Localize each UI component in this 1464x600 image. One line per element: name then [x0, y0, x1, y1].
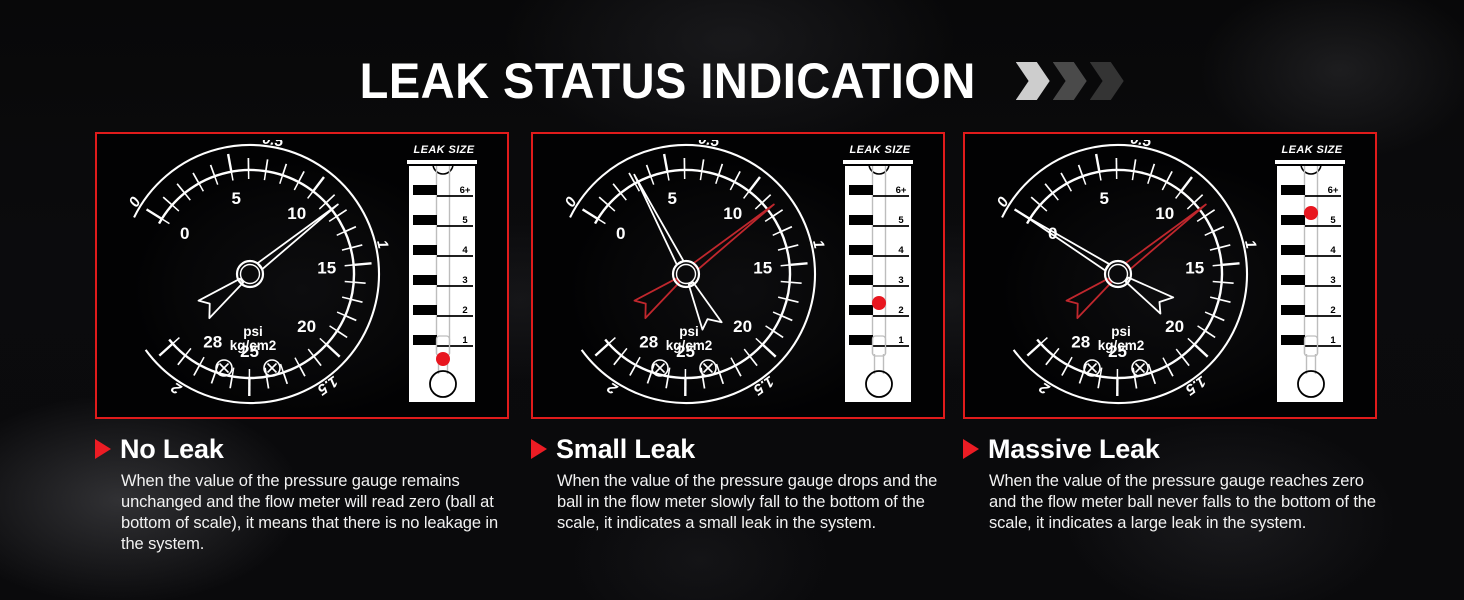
gauge-hub-inner	[677, 265, 696, 284]
gauge-kgcm2-label: 2	[604, 378, 622, 398]
meter-scale-label: 4	[462, 245, 468, 256]
meter-scale-block	[1281, 245, 1305, 255]
meter-scale-block	[849, 245, 873, 255]
gauge-tick-minor	[211, 165, 215, 175]
gauge-tick-inner	[778, 297, 786, 299]
gauge-tick-minor	[703, 378, 705, 389]
meter-scale-label: 6+	[896, 185, 907, 196]
gauge-tick-inner	[755, 204, 761, 209]
gauge-tick-minor	[735, 171, 740, 181]
gauge-tick-major	[791, 263, 808, 264]
gauge-kgcm2-label: 0.5	[261, 140, 285, 151]
meter-scale-label: 1	[462, 335, 468, 346]
gauge-tick-inner	[1197, 217, 1204, 221]
gauge-tick-inner	[716, 176, 719, 184]
gauge-tick-inner	[1149, 364, 1152, 372]
gauge-tick-inner	[766, 326, 773, 330]
gauge-unit-kgcm2: kg/cm2	[666, 338, 713, 353]
meter-scale-block	[1281, 275, 1305, 285]
gauge-tick-minor	[1045, 184, 1052, 193]
gauge-tick-inner	[337, 312, 344, 315]
gauge-tick-inner	[1176, 192, 1181, 198]
gauge-tick-inner	[319, 204, 325, 209]
meter-scale-label: 1	[1330, 335, 1336, 346]
gauge-tick-minor	[720, 373, 724, 383]
meter-scale-block	[849, 215, 873, 225]
gauge-tick-major	[1027, 344, 1040, 355]
caption-title: Massive Leak	[988, 436, 1160, 463]
caption-title: No Leak	[120, 436, 224, 463]
gauge-tick-major	[595, 344, 608, 355]
gauge-tick-inner	[173, 206, 179, 211]
gauge-tick-inner	[765, 217, 772, 221]
gauge-psi-label: 28	[203, 332, 222, 351]
gauge-tick-inner	[345, 265, 353, 266]
meter-scale-label: 2	[462, 305, 467, 316]
gauge-tick-inner	[1213, 265, 1221, 266]
gauge-tick-inner	[199, 184, 203, 191]
gauge-tick-minor	[266, 159, 268, 170]
gauge-psi-label: 15	[1185, 258, 1204, 277]
gauge-tick-inner	[1188, 338, 1194, 343]
gauge-tick-minor	[1205, 210, 1214, 216]
gauge-tick-inner	[281, 364, 284, 372]
gauge-tick-minor	[338, 331, 347, 337]
gauge-tick-inner	[1041, 338, 1047, 343]
gauge-tick-minor	[1223, 282, 1234, 283]
gauge-tick-inner	[163, 219, 170, 223]
gauge-tick-minor	[1098, 377, 1100, 388]
meter-scale-label: 6+	[1328, 185, 1339, 196]
gauge-tick-minor	[736, 366, 741, 376]
caption-no-leak: No Leak When the value of the pressure g…	[95, 432, 515, 555]
gauge-psi-label: 20	[297, 317, 316, 336]
gauge-tick-inner	[215, 177, 218, 185]
gauge-tick-major	[583, 209, 597, 218]
meter-scale-label: 5	[462, 215, 468, 226]
gauge-tick-inner	[329, 217, 336, 221]
meter-scale-label: 3	[462, 275, 467, 286]
gauge-psi-label: 28	[1071, 332, 1090, 351]
meter-scale-block	[1281, 185, 1305, 195]
gauge-tick-inner	[280, 176, 283, 184]
gauge-tick-inner	[1176, 349, 1181, 355]
meter-ball-indicator	[436, 352, 450, 366]
gauge-kgcm2-label: 2	[168, 378, 186, 398]
gauge-tick-inner	[1213, 282, 1221, 283]
chevron-right-icon-2	[1053, 62, 1087, 100]
leak-size-title: LEAK SIZE	[403, 142, 485, 158]
gauge-tick-major	[1223, 263, 1240, 264]
gauge-tick-minor	[1135, 378, 1137, 389]
gauge-tick-minor	[750, 357, 757, 366]
leak-size-meter: LEAK SIZE6+54321	[1271, 142, 1353, 410]
gauge-tick-major	[147, 209, 161, 218]
gauge-psi-label: 15	[753, 258, 772, 277]
gauge-tick-major	[1182, 177, 1192, 191]
meter-scale-label: 2	[1330, 305, 1335, 316]
gauge-tick-inner	[621, 194, 626, 200]
gauge-tick-minor	[773, 210, 782, 216]
gauge-psi-label: 28	[639, 332, 658, 351]
meter-scale-block	[849, 305, 873, 315]
caption-title: Small Leak	[556, 436, 695, 463]
meter-scale-block	[413, 305, 437, 315]
meter-top-cap	[1275, 160, 1345, 164]
meter-scale-block	[413, 215, 437, 225]
gauge-unit-psi: psi	[1111, 324, 1131, 339]
gauge-tick-inner	[1100, 173, 1101, 181]
caption-massive-leak: Massive Leak When the value of the press…	[963, 432, 1383, 534]
gauge-tick-inner	[1053, 194, 1058, 200]
meter-scale-label: 2	[898, 305, 903, 316]
gauge-tick-minor	[788, 245, 799, 248]
gauge-tick-inner	[264, 172, 265, 180]
gauge-tick-minor	[788, 300, 799, 303]
gauge-tick-minor	[355, 282, 366, 283]
gauge-tick-inner	[185, 194, 190, 200]
gauge-tick-minor	[337, 210, 346, 216]
gauge-tick-inner	[1083, 177, 1086, 185]
gauge-bezel-arc	[570, 145, 815, 403]
caption-body: When the value of the pressure gauge dro…	[557, 471, 952, 534]
gauge-kgcm2-label: 1.5	[314, 372, 341, 398]
chevron-arrow-group	[1016, 62, 1124, 100]
gauge-tick-minor	[1214, 316, 1224, 320]
gauge-tick-inner	[636, 357, 640, 364]
gauge-tick-minor	[647, 373, 651, 383]
gauge-tick-inner	[1054, 348, 1059, 354]
gauge-tick-minor	[647, 165, 651, 175]
leak-size-title: LEAK SIZE	[1271, 142, 1353, 158]
gauge-screw-icon	[700, 360, 716, 376]
meter-scale-block	[849, 335, 873, 345]
gauge-tick-inner	[1132, 172, 1133, 180]
gauge-tick-minor	[1062, 366, 1067, 376]
gauge-tick-minor	[702, 159, 704, 170]
gauge-psi-label: 10	[723, 204, 742, 223]
gauge-tick-inner	[295, 358, 299, 365]
caption-small-leak: Small Leak When the value of the pressur…	[531, 432, 951, 534]
meter-scale-label: 4	[1330, 245, 1336, 256]
meter-scale-block	[413, 245, 437, 255]
gauge-tick-inner	[773, 232, 780, 235]
page-title: LEAK STATUS INDICATION	[360, 56, 976, 106]
meter-top-cap	[843, 160, 913, 164]
gauge-tick-minor	[666, 377, 668, 388]
gauge-tick-inner	[1041, 206, 1047, 211]
gauge-hub-inner	[1109, 265, 1128, 284]
gauge-tick-inner	[1148, 176, 1151, 184]
leak-size-meter: LEAK SIZE6+54321	[839, 142, 921, 410]
gauge-tick-major	[664, 154, 667, 171]
gauge-tick-inner	[1198, 326, 1205, 330]
gauge-tick-inner	[781, 282, 789, 283]
meter-scale-block	[413, 185, 437, 195]
gauge-tick-minor	[1182, 357, 1189, 366]
gauge-tick-major	[314, 177, 324, 191]
gauge-tick-inner	[609, 338, 615, 343]
gauge-tick-inner	[342, 297, 350, 299]
gauge-psi-label: 5	[1099, 189, 1108, 208]
gauge-tick-inner	[1162, 183, 1166, 190]
gauge-tick-inner	[717, 364, 720, 372]
gauge-tick-minor	[211, 373, 215, 383]
caption-body: When the value of the pressure gauge rea…	[989, 471, 1384, 534]
meter-scale-label: 5	[1330, 215, 1336, 226]
caption-header: Massive Leak	[963, 432, 1383, 466]
triangle-marker-icon	[95, 439, 111, 459]
gauge-tick-minor	[1220, 245, 1231, 248]
gauge-psi-label: 20	[1165, 317, 1184, 336]
gauge-tick-minor	[178, 356, 185, 365]
gauge-tick-inner	[622, 348, 627, 354]
gauge-kgcm2-label: 0	[562, 194, 581, 211]
gauge-kgcm2-label: 1.5	[750, 372, 777, 398]
meter-top-cap	[407, 160, 477, 164]
leak-size-title: LEAK SIZE	[839, 142, 921, 158]
gauge-tick-minor	[1046, 356, 1053, 365]
caption-header: Small Leak	[531, 432, 951, 466]
gauge-needle-white	[1023, 215, 1173, 314]
gauge-screw-icon	[1132, 360, 1148, 376]
gauge-tick-minor	[283, 164, 286, 174]
gauge-kgcm2-label: 1	[1241, 238, 1259, 250]
panel-small-leak: 05101520252800.511.52psikg/cm2LEAK SIZE6…	[531, 132, 945, 419]
pressure-gauge: 05101520252800.511.52psikg/cm2	[105, 140, 395, 415]
gauge-tick-minor	[177, 184, 184, 193]
gauge-tick-minor	[719, 164, 722, 174]
meter-scale-block	[1281, 305, 1305, 315]
gauge-tick-inner	[186, 348, 191, 354]
gauge-psi-label: 0	[616, 224, 625, 243]
gauge-tick-inner	[337, 232, 344, 235]
gauge-psi-label: 15	[317, 258, 336, 277]
gauge-tick-inner	[308, 192, 313, 198]
gauge-psi-label: 5	[667, 189, 676, 208]
gauge-hub-inner	[241, 265, 260, 284]
leak-size-meter: LEAK SIZE6+54321	[403, 142, 485, 410]
poster-root: LEAK STATUS INDICATION 05101520252800.51…	[0, 0, 1464, 600]
panel-no-leak: 05101520252800.511.52psikg/cm2LEAK SIZE6…	[95, 132, 509, 419]
gauge-kgcm2-label: 0.5	[1129, 140, 1153, 151]
meter-scale-label: 4	[898, 245, 904, 256]
gauge-tick-inner	[294, 183, 298, 190]
gauge-tick-inner	[1163, 358, 1167, 365]
gauge-tick-inner	[1210, 297, 1218, 299]
gauge-tick-minor	[163, 197, 171, 204]
caption-body: When the value of the pressure gauge rem…	[121, 471, 516, 555]
gauge-tick-inner	[668, 173, 669, 181]
gauge-tick-inner	[173, 338, 179, 343]
pressure-gauge: 05101520252800.511.52psikg/cm2	[541, 140, 831, 415]
gauge-tick-minor	[284, 373, 288, 383]
gauge-tick-minor	[1168, 366, 1173, 376]
gauge-tick-major	[1195, 345, 1208, 357]
gauge-tick-inner	[1210, 248, 1218, 250]
gauge-tick-minor	[630, 366, 635, 376]
gauge-bezel-arc	[134, 145, 379, 403]
gauge-tick-minor	[1061, 173, 1066, 183]
gauge-psi-label: 5	[231, 189, 240, 208]
gauge-tick-minor	[1079, 165, 1083, 175]
gauge-unit-psi: psi	[679, 324, 699, 339]
gauge-tick-minor	[352, 245, 363, 248]
triangle-marker-icon	[963, 439, 979, 459]
meter-scale-block	[1281, 335, 1305, 345]
meter-scale-block	[413, 335, 437, 345]
gauge-tick-inner	[308, 349, 313, 355]
gauge-kgcm2-label: 0	[126, 194, 145, 211]
gauge-tick-major	[1096, 154, 1099, 171]
gauge-tick-major	[750, 177, 760, 191]
gauge-psi-label: 10	[287, 204, 306, 223]
gauge-kgcm2-label: 2	[1036, 378, 1054, 398]
gauge-tick-inner	[1187, 204, 1193, 209]
gauge-unit-kgcm2: kg/cm2	[230, 338, 277, 353]
gauge-tick-minor	[1220, 300, 1231, 303]
chevron-right-icon-1	[1016, 62, 1050, 100]
gauge-tick-minor	[763, 195, 771, 203]
gauge-tick-inner	[330, 326, 337, 330]
triangle-marker-icon	[531, 439, 547, 459]
gauge-screw-icon	[264, 360, 280, 376]
meter-scale-block	[849, 185, 873, 195]
meter-scale-label: 6+	[460, 185, 471, 196]
gauge-tick-inner	[651, 177, 654, 185]
gauge-tick-inner	[609, 206, 615, 211]
gauge-tick-major	[159, 344, 172, 355]
gauge-tick-inner	[700, 172, 701, 180]
gauge-tick-minor	[1195, 195, 1203, 203]
gauge-tick-inner	[320, 338, 326, 343]
gauge-tick-inner	[1205, 312, 1212, 315]
gauge-kgcm2-label: 0	[994, 194, 1013, 211]
gauge-tick-minor	[791, 282, 802, 283]
gauge-tick-minor	[1152, 373, 1156, 383]
gauge-tick-inner	[232, 173, 233, 181]
gauge-tick-minor	[300, 366, 305, 376]
gauge-tick-minor	[346, 227, 356, 231]
gauge-tick-inner	[345, 282, 353, 283]
chevron-right-icon-3	[1090, 62, 1124, 100]
gauge-bezel-arc	[1002, 145, 1247, 403]
gauge-tick-minor	[352, 300, 363, 303]
gauge-tick-major	[763, 345, 776, 357]
meter-ball-indicator	[1304, 206, 1318, 220]
gauge-tick-major	[228, 154, 231, 171]
gauge-tick-minor	[1134, 159, 1136, 170]
gauge-tick-minor	[327, 195, 335, 203]
gauge-tick-inner	[730, 183, 734, 190]
caption-header: No Leak	[95, 432, 515, 466]
gauge-tick-inner	[778, 248, 786, 250]
gauge-tick-minor	[1151, 164, 1154, 174]
gauge-tick-minor	[774, 331, 783, 337]
meter-scale-label: 5	[898, 215, 904, 226]
meter-scale-label: 1	[898, 335, 904, 346]
gauge-tick-inner	[731, 358, 735, 365]
meter-scale-label: 3	[898, 275, 903, 286]
gauge-tick-inner	[773, 312, 780, 315]
gauge-kgcm2-label: 0.5	[697, 140, 721, 151]
gauge-tick-inner	[744, 192, 749, 198]
gauge-tick-minor	[1214, 227, 1224, 231]
title-row: LEAK STATUS INDICATION	[0, 48, 1464, 114]
gauge-kgcm2-label: 1	[373, 238, 391, 250]
gauge-tick-inner	[781, 265, 789, 266]
gauge-psi-label: 10	[1155, 204, 1174, 223]
meter-scale-block	[413, 275, 437, 285]
gauge-tick-minor	[782, 227, 792, 231]
gauge-kgcm2-label: 1.5	[1182, 372, 1209, 398]
gauge-tick-minor	[599, 197, 607, 204]
gauge-tick-major	[355, 263, 372, 264]
gauge-tick-inner	[756, 338, 762, 343]
gauge-tick-minor	[193, 173, 198, 183]
gauge-tick-minor	[1167, 171, 1172, 181]
gauge-tick-major	[327, 345, 340, 357]
gauge-tick-inner	[744, 349, 749, 355]
gauge-psi-label: 0	[180, 224, 189, 243]
gauge-tick-minor	[267, 378, 269, 389]
gauge-tick-minor	[346, 316, 356, 320]
gauge-kgcm2-label: 1	[809, 238, 827, 250]
gauge-unit-psi: psi	[243, 324, 263, 339]
gauge-tick-minor	[614, 356, 621, 365]
meter-scale-block	[1281, 215, 1305, 225]
meter-scale-label: 3	[1330, 275, 1335, 286]
gauge-unit-kgcm2: kg/cm2	[1098, 338, 1145, 353]
meter-ball-indicator	[872, 296, 886, 310]
gauge-tick-minor	[194, 366, 199, 376]
gauge-tick-inner	[1067, 184, 1071, 191]
gauge-tick-minor	[299, 171, 304, 181]
gauge-tick-inner	[1068, 357, 1072, 364]
pressure-gauge: 05101520252800.511.52psikg/cm2	[973, 140, 1263, 415]
gauge-tick-minor	[230, 377, 232, 388]
gauge-tick-inner	[200, 357, 204, 364]
gauge-tick-minor	[1206, 331, 1215, 337]
gauge-tick-inner	[342, 248, 350, 250]
gauge-tick-minor	[613, 184, 620, 193]
gauge-tick-minor	[782, 316, 792, 320]
gauge-tick-minor	[314, 357, 321, 366]
gauge-tick-inner	[599, 219, 606, 223]
gauge-psi-label: 20	[733, 317, 752, 336]
gauge-tick-inner	[1205, 232, 1212, 235]
gauge-tick-minor	[1031, 197, 1039, 204]
gauge-tick-minor	[1079, 373, 1083, 383]
meter-scale-block	[849, 275, 873, 285]
panel-massive-leak: 05101520252800.511.52psikg/cm2LEAK SIZE6…	[963, 132, 1377, 419]
